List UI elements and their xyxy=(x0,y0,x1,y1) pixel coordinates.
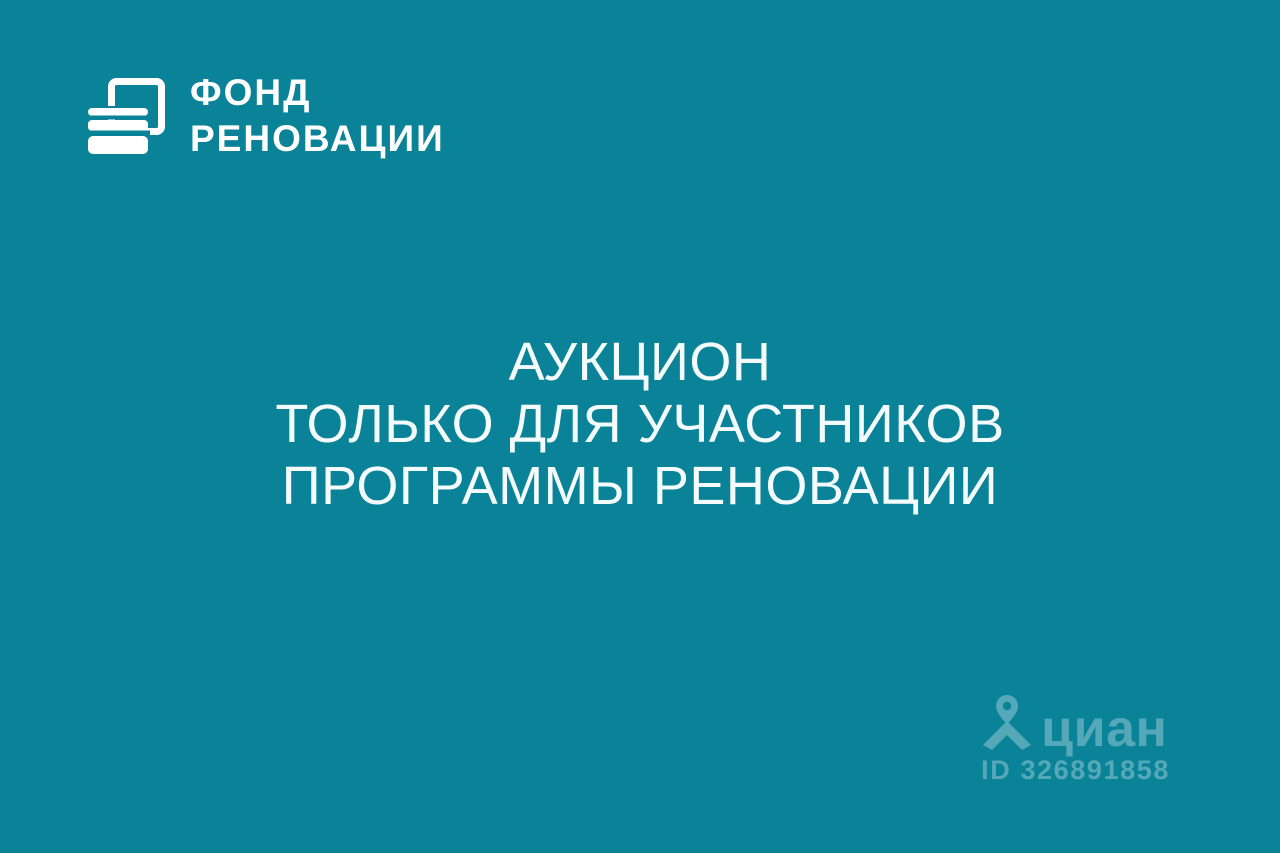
brand-lockup: ФОНД РЕНОВАЦИИ xyxy=(84,68,445,160)
brand-wordmark-line-2: РЕНОВАЦИИ xyxy=(190,120,445,157)
cian-watermark-name: циан xyxy=(1041,707,1167,751)
cian-watermark-listing-id: ID 326891858 xyxy=(981,755,1170,785)
brand-wordmark: ФОНД РЕНОВАЦИИ xyxy=(190,72,445,157)
headline-line-2: ТОЛЬКО ДЛЯ УЧАСТНИКОВ xyxy=(0,393,1280,455)
cian-watermark: циан ID 326891858 xyxy=(981,695,1170,785)
fond-renovatsii-logo-mark xyxy=(84,68,174,160)
brand-wordmark-line-1: ФОНД xyxy=(190,74,445,111)
cian-watermark-logo-row: циан xyxy=(981,695,1170,751)
headline-line-3: ПРОГРАММЫ РЕНОВАЦИИ xyxy=(0,455,1280,517)
listing-banner-image: ФОНД РЕНОВАЦИИ АУКЦИОН ТОЛЬКО ДЛЯ УЧАСТН… xyxy=(0,0,1280,853)
cian-pin-roof-icon xyxy=(981,693,1033,751)
document-stack-icon xyxy=(84,68,174,160)
headline-line-1: АУКЦИОН xyxy=(0,331,1280,393)
headline-text: АУКЦИОН ТОЛЬКО ДЛЯ УЧАСТНИКОВ ПРОГРАММЫ … xyxy=(0,331,1280,517)
